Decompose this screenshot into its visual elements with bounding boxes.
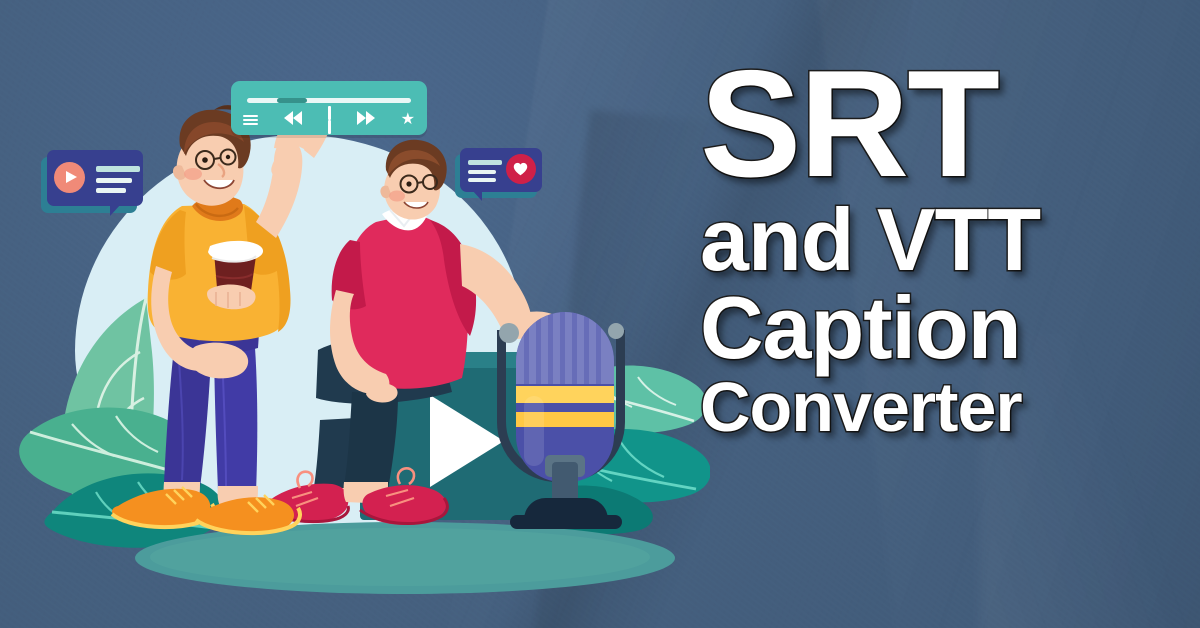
title-line-1: SRT xyxy=(700,52,1170,196)
player-controls: ★ xyxy=(243,111,415,129)
rewind-icon[interactable] xyxy=(284,111,302,130)
play-icon[interactable] xyxy=(54,162,85,193)
microphone-highlight xyxy=(524,396,544,466)
standing-person xyxy=(112,103,329,535)
chat-bubble-like-tail xyxy=(472,190,482,201)
title-block: SRT and VTT Caption Converter xyxy=(700,52,1170,440)
title-line-3: Caption xyxy=(700,286,1170,370)
heart-icon xyxy=(513,162,528,176)
title-line-4: Converter xyxy=(700,374,1170,441)
star-icon[interactable]: ★ xyxy=(401,112,415,128)
microphone-grille xyxy=(516,312,614,384)
menu-icon[interactable] xyxy=(243,115,258,126)
bubble-text-line xyxy=(468,160,502,165)
bubble-text-line xyxy=(96,188,126,193)
bubble-text-line xyxy=(468,178,496,182)
title-line-2: and VTT xyxy=(700,198,1170,282)
progress-track[interactable] xyxy=(247,98,411,103)
bubble-text-line xyxy=(96,178,132,183)
media-player-bar[interactable]: ★ xyxy=(231,81,427,135)
bubble-text-line xyxy=(96,166,140,172)
microphone-knob-right xyxy=(608,323,624,339)
microphone-knob-left xyxy=(499,323,519,343)
microphone-base-plate xyxy=(510,515,622,529)
chat-bubble-video-tail xyxy=(110,204,121,216)
banner-canvas: ★ SRT and VTT Caption Converter xyxy=(0,0,1200,628)
bubble-text-line xyxy=(468,170,496,174)
progress-thumb[interactable] xyxy=(277,98,307,103)
pause-icon[interactable] xyxy=(328,106,332,134)
illustration: ★ xyxy=(0,0,700,628)
fast-forward-icon[interactable] xyxy=(357,111,375,130)
